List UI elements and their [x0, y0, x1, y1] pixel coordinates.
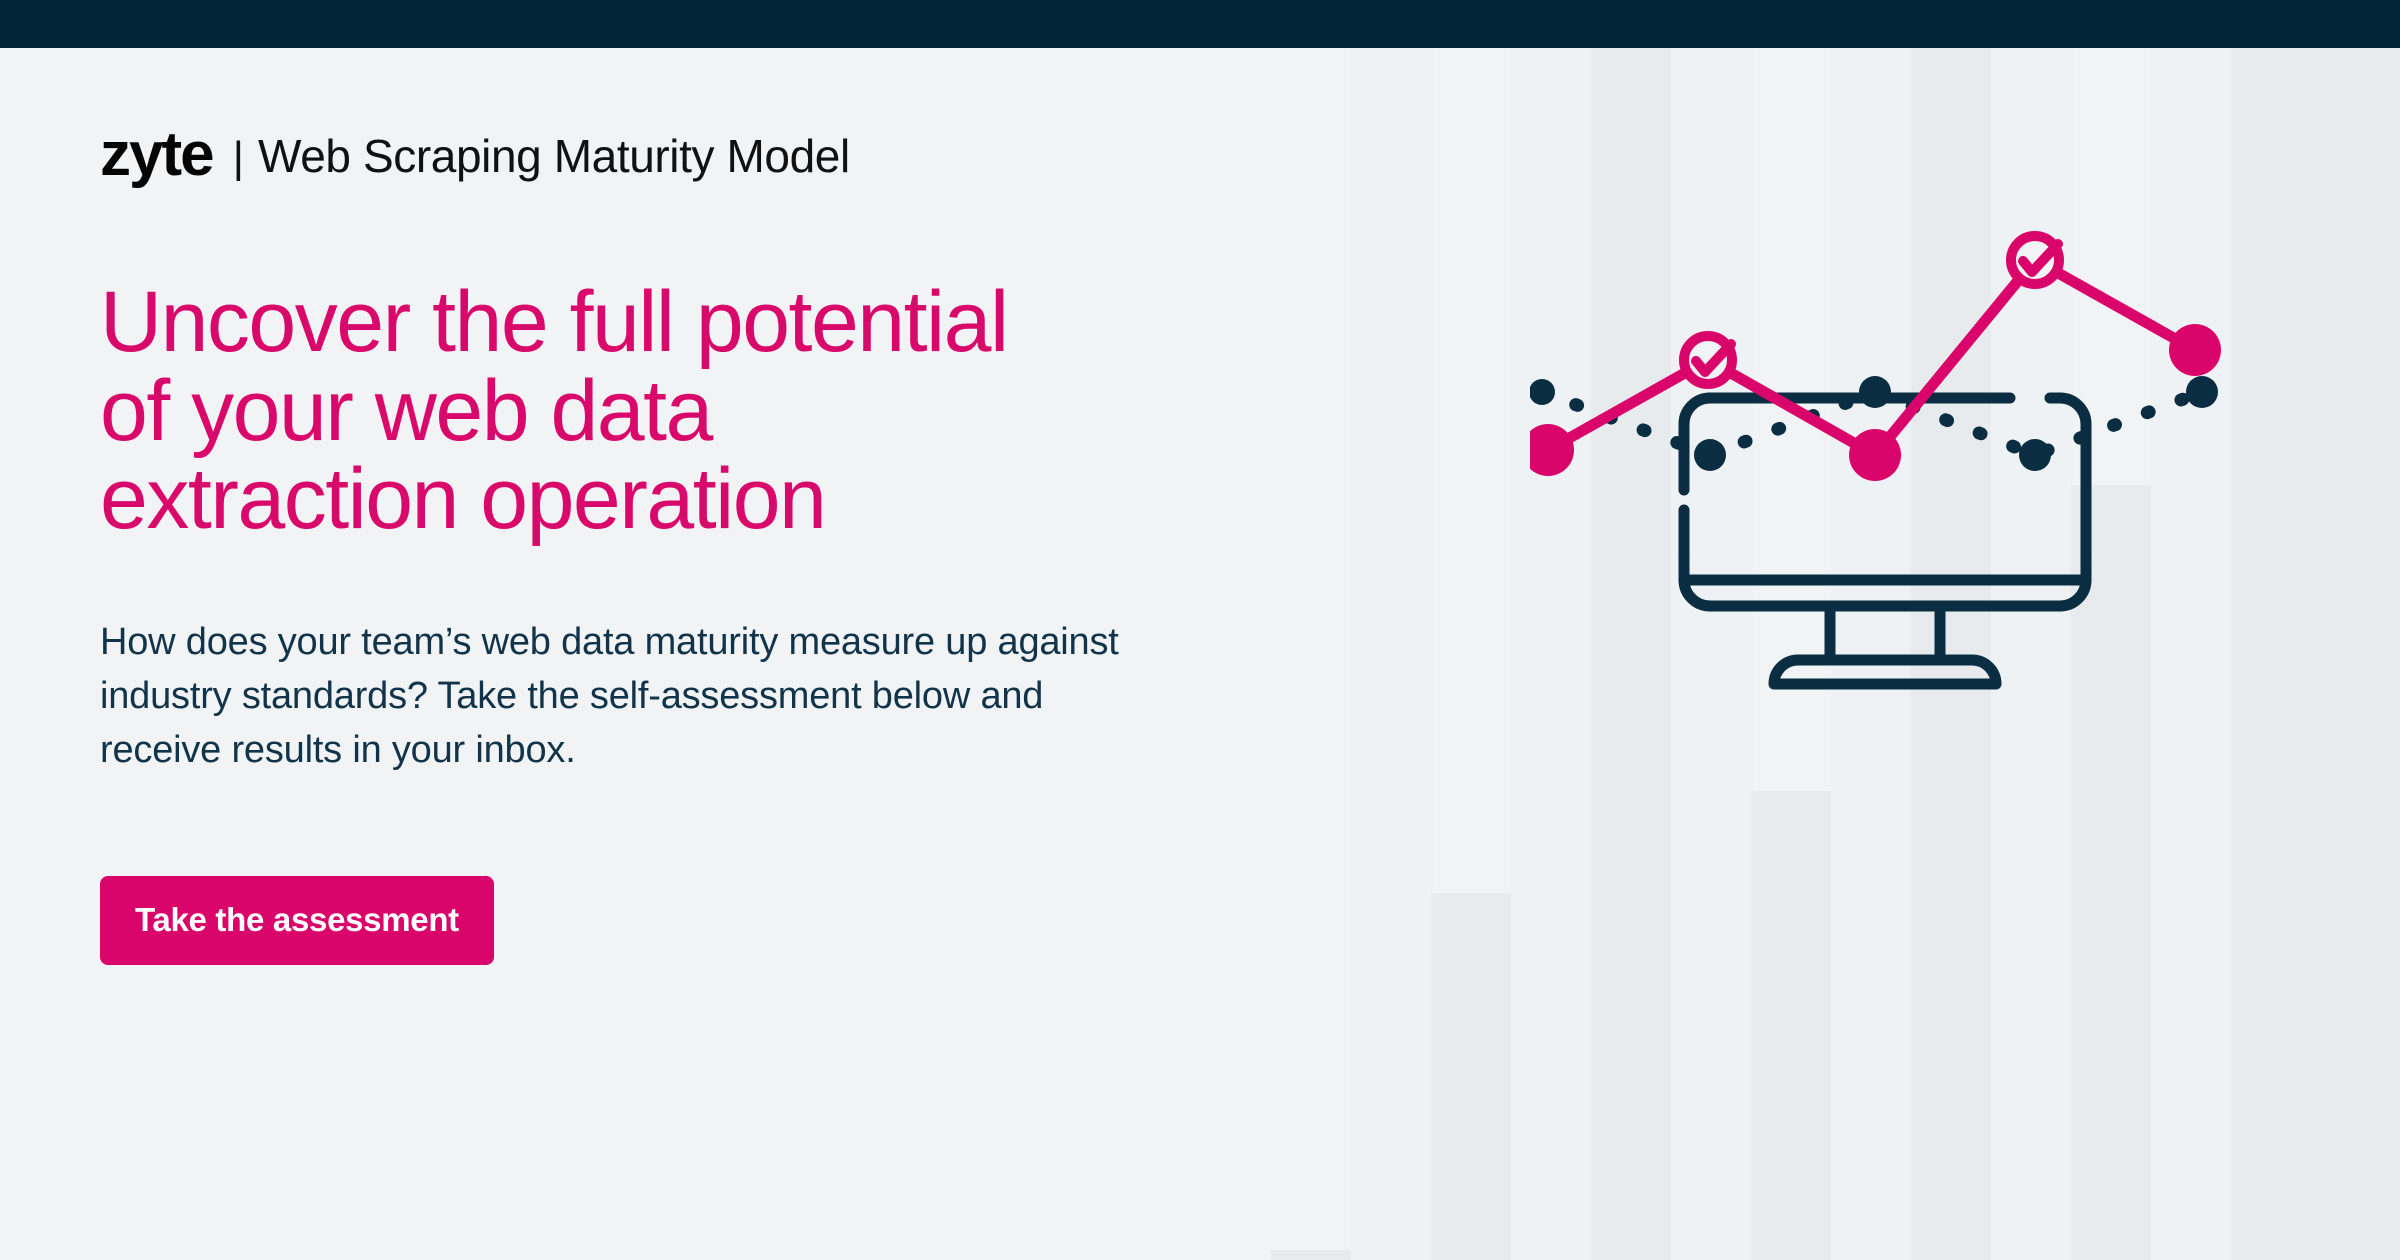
headline-line: Uncover the full potential	[100, 278, 1430, 367]
hero-illustration	[1530, 180, 2250, 760]
headline-line: extraction operation	[100, 455, 1430, 544]
hero-content: zyte | Web Scraping Maturity Model Uncov…	[100, 48, 1550, 965]
pink-series-markers	[1530, 236, 2221, 481]
pink-dot-marker	[2169, 324, 2221, 376]
top-navy-bar	[0, 0, 2400, 48]
landing-page: zyte | Web Scraping Maturity Model Uncov…	[0, 0, 2400, 1260]
brand-separator: |	[233, 136, 244, 180]
check-circle-marker	[1684, 336, 1732, 384]
product-title: Web Scraping Maturity Model	[258, 133, 850, 179]
pink-dot-marker	[1849, 429, 1901, 481]
headline-line: of your web data	[100, 367, 1430, 456]
background-bar	[1751, 791, 1833, 1260]
brand-row: zyte | Web Scraping Maturity Model	[100, 124, 1550, 194]
body-line: receive results in your inbox.	[100, 724, 1460, 778]
hero-body-copy: How does your team’s web data maturity m…	[100, 616, 1460, 778]
check-circle-marker	[2011, 236, 2059, 284]
page-title: Uncover the full potential of your web d…	[100, 278, 1430, 544]
body-line: industry standards? Take the self-assess…	[100, 670, 1460, 724]
background-bar	[1271, 1250, 1353, 1260]
body-line: How does your team’s web data maturity m…	[100, 616, 1460, 670]
take-the-assessment-button[interactable]: Take the assessment	[100, 876, 494, 965]
zyte-logo[interactable]: zyte	[100, 124, 213, 186]
background-bar	[2311, 48, 2400, 1260]
